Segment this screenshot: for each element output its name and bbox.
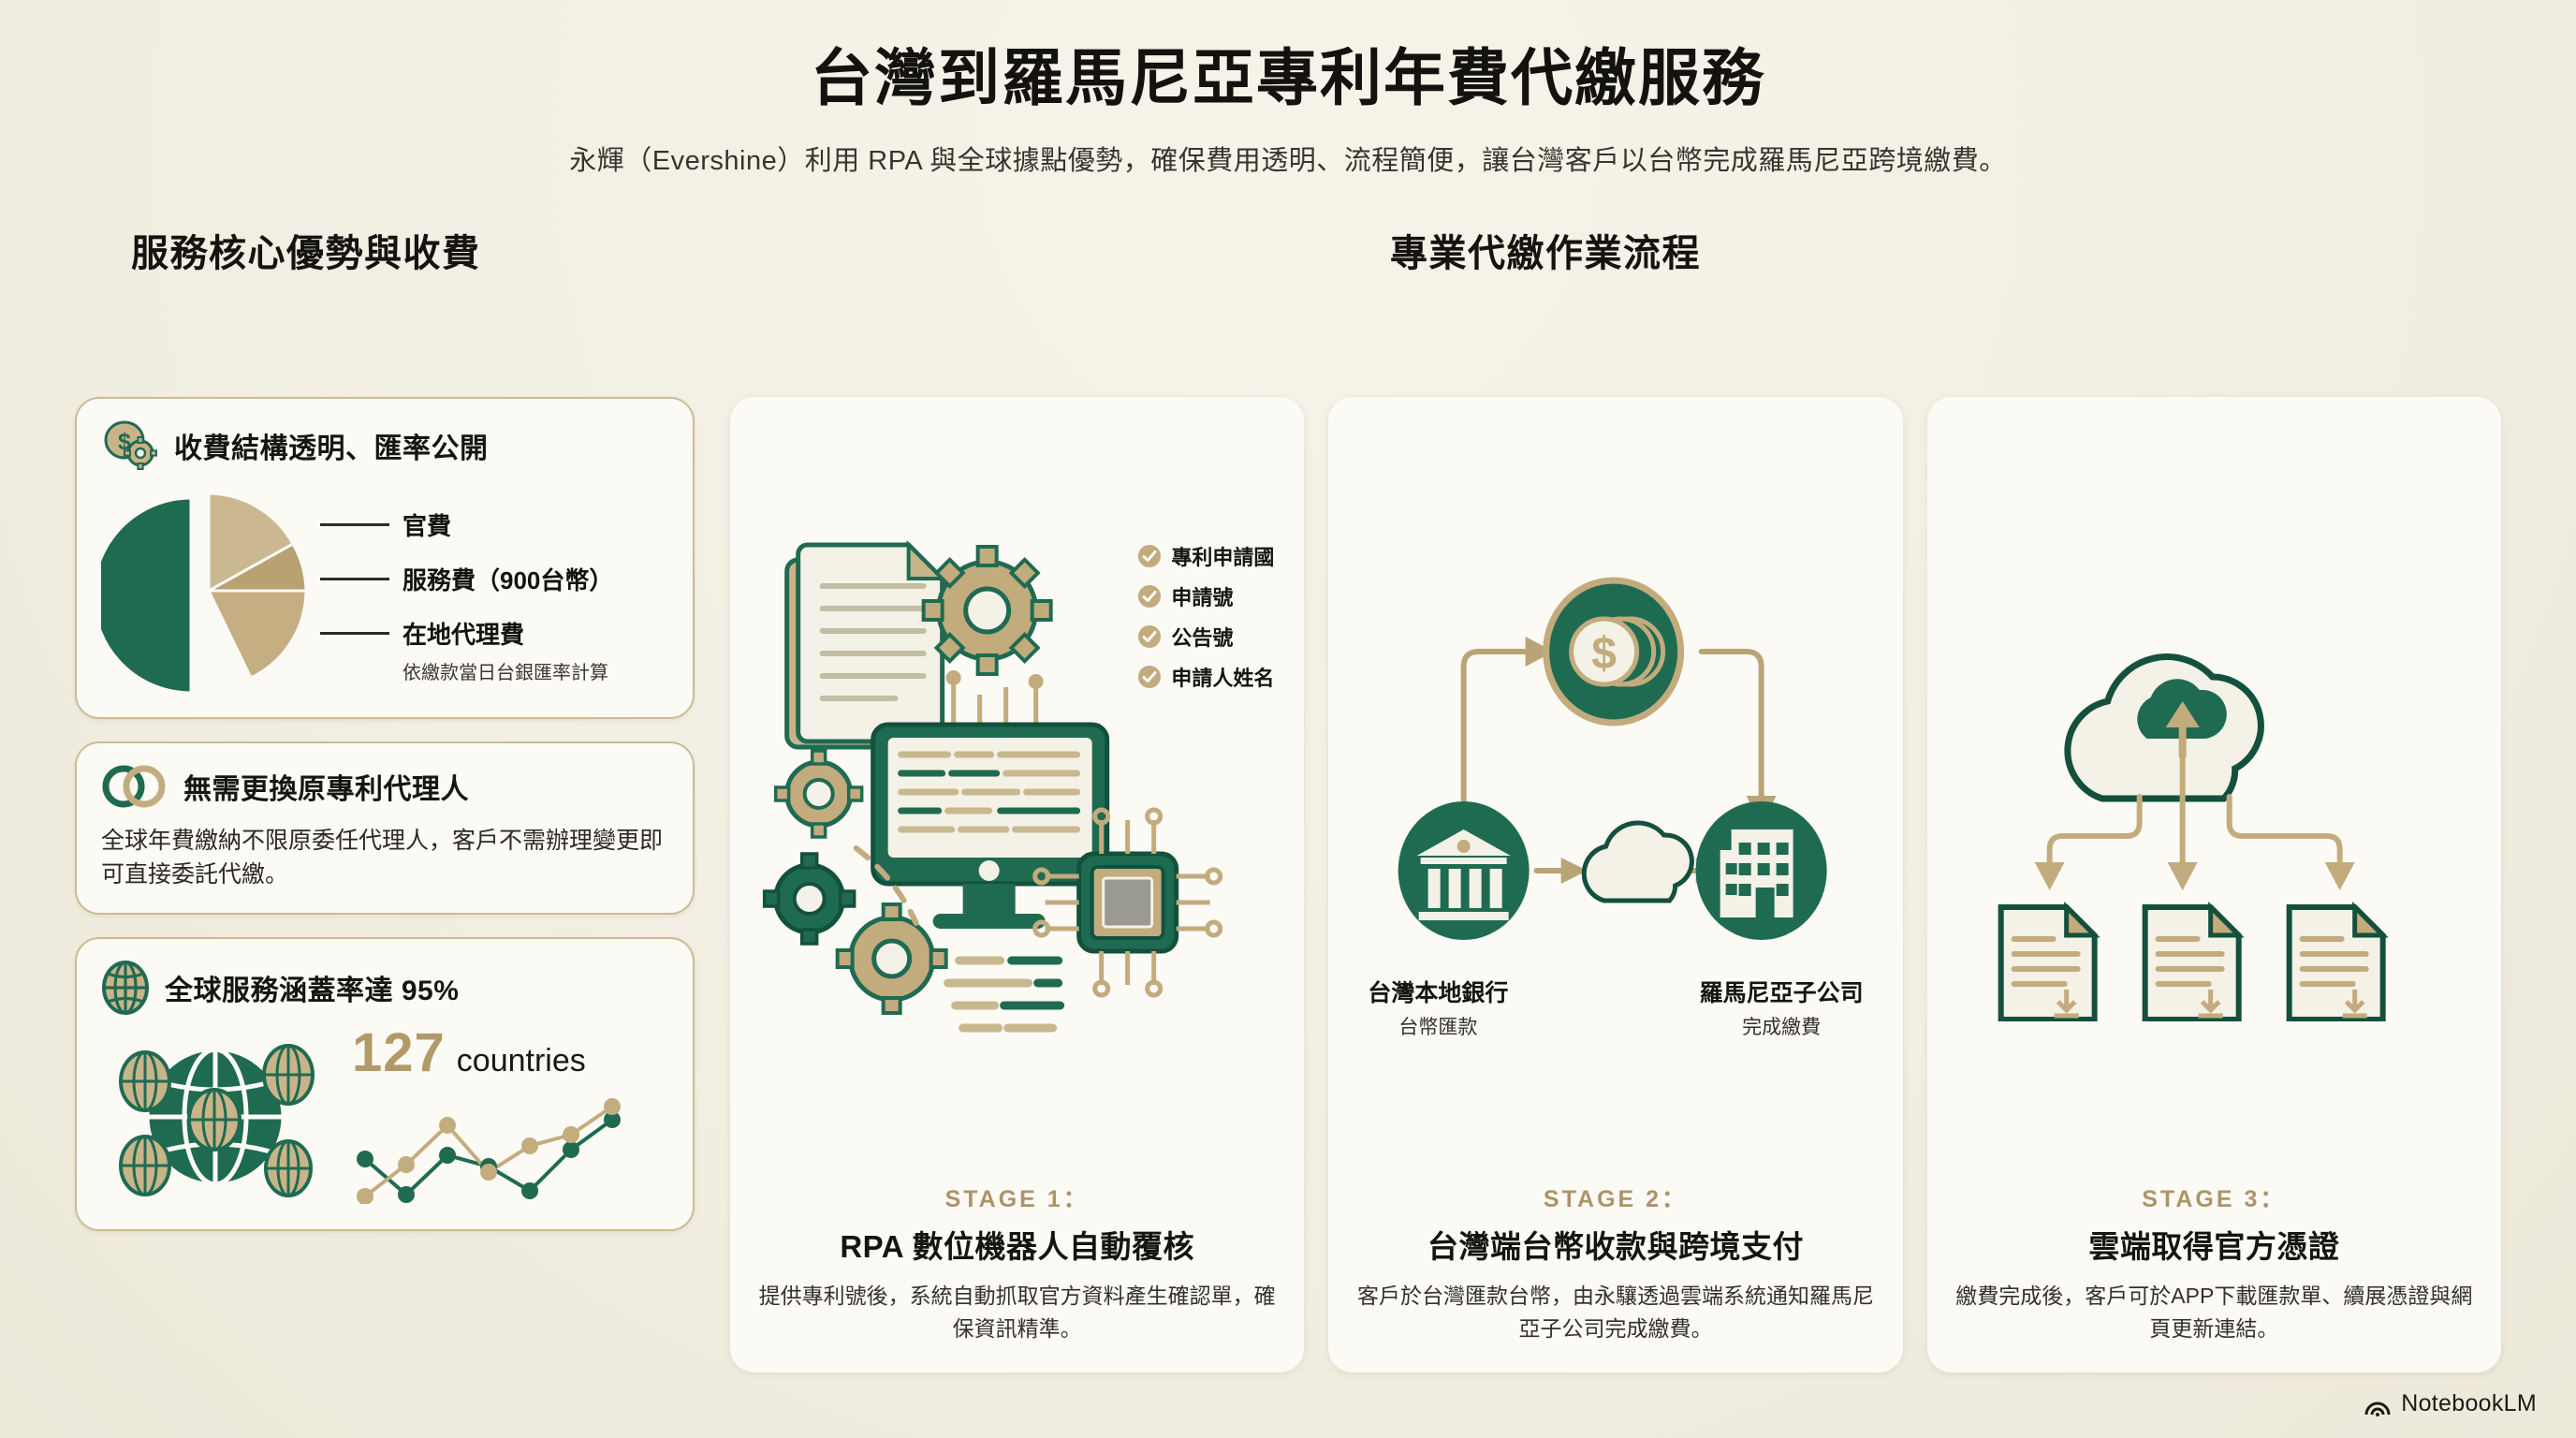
arrow-head [2167, 862, 2197, 890]
bank-icon [1398, 801, 1529, 940]
left-column: $ 收費結構透明、匯率公開 [75, 397, 695, 1372]
notebooklm-logo [2364, 1391, 2392, 1417]
legend-label-official-fee: 官費 [402, 507, 451, 542]
stage-2-node-labels: 台灣本地銀行 台幣匯款 羅馬尼亞子公司 完成繳費 [1353, 969, 1878, 1040]
satellite-globe [121, 1137, 169, 1195]
stage-panel-1: 專利申請國 申請號 [730, 397, 1304, 1372]
checklist-label: 申請人姓名 [1171, 662, 1274, 692]
page-header: 台灣到羅馬尼亞專利年費代繳服務 永輝（Evershine）利用 RPA 與全球據… [0, 0, 2576, 178]
section-heading-left: 服務核心優勢與收費 [131, 223, 481, 277]
stage-1-checklist: 專利申請國 申請號 [1137, 541, 1274, 702]
node-label-company: 羅馬尼亞子公司 完成繳費 [1700, 975, 1864, 1040]
globe-network-icon [101, 1023, 335, 1207]
points-green [357, 1111, 621, 1203]
checklist-label: 公告號 [1171, 622, 1233, 652]
card-title: 無需更換原專利代理人 [183, 766, 469, 807]
check-circle-icon [1137, 665, 1162, 689]
checklist-label: 申請號 [1171, 581, 1233, 611]
pie-chart-svg [101, 485, 316, 697]
data-lines [948, 961, 1061, 1028]
card-description: 全球年費繳納不限原委任代理人，客戶不需辦理變更即可直接委託代繳。 [101, 824, 668, 892]
legend-leader-line [320, 632, 389, 635]
svg-text:$: $ [1592, 629, 1617, 679]
country-unit: countries [457, 1043, 586, 1079]
coin-gear-icon: $ [101, 419, 159, 472]
globe-icon [101, 960, 150, 1016]
node-title: 台灣本地銀行 [1368, 975, 1508, 1008]
legend-item: 官費 [320, 498, 613, 552]
stage-title: RPA 數位機器人自動覆核 [840, 1222, 1194, 1267]
card-title: 收費結構透明、匯率公開 [174, 425, 489, 466]
stage-description: 提供專利號後，系統自動抓取官方資料產生確認單，確保資訊精準。 [754, 1280, 1280, 1344]
footer-brand-text: NotebookLM [2401, 1390, 2537, 1417]
building-icon [1696, 801, 1827, 940]
document-download-icon [2289, 907, 2382, 1020]
document-download-icon [2144, 907, 2238, 1020]
section-heading-right: 專業代繳作業流程 [1390, 223, 1701, 277]
check-circle-icon [1137, 584, 1162, 609]
document-download-icon [2000, 907, 2094, 1020]
stage-2-illustration: $ [1353, 421, 1878, 1181]
exchange-rate-note: 依繳款當日台銀匯率計算 [402, 657, 613, 684]
gear-icon [765, 854, 855, 944]
coin-stack-icon: $ [1546, 580, 1681, 723]
stage-1-illustration: 專利申請國 申請號 [754, 421, 1280, 1181]
right-column: 專利申請國 申請號 [730, 397, 2501, 1372]
pie-slice-green [101, 498, 191, 693]
stage-label: STAGE 2： [1544, 1181, 1688, 1214]
document-icon [787, 545, 943, 747]
card-header: 全球服務涵蓋率達 95% [101, 960, 668, 1016]
cloud-certificate-diagram [1952, 581, 2477, 1021]
legend-label-local-agent-fee: 在地代理費 [402, 616, 524, 651]
card-header: $ 收費結構透明、匯率公開 [101, 419, 668, 472]
legend-leader-line [320, 523, 389, 526]
checklist-item: 申請人姓名 [1137, 662, 1274, 692]
node-title: 羅馬尼亞子公司 [1700, 975, 1864, 1008]
coverage-line-chart [352, 1090, 650, 1204]
country-count: 127 [352, 1021, 446, 1084]
cloud-upload-icon [2068, 656, 2261, 798]
coverage-visual: 127 countries [101, 1021, 668, 1209]
check-circle-icon [1137, 624, 1162, 649]
checklist-item: 專利申請國 [1137, 541, 1274, 571]
fee-pie-chart: 官費 服務費（900台幣） 在地代理費 依繳款當日台銀匯率計算 [101, 485, 668, 697]
stage-description: 客戶於台灣匯款台幣，由永驤透過雲端系統通知羅馬尼亞子公司完成繳費。 [1353, 1280, 1878, 1344]
two-rings-icon [101, 764, 168, 809]
gear-icon [924, 547, 1051, 674]
center-globe [189, 1090, 240, 1150]
stage-title: 雲端取得官方憑證 [2088, 1222, 2339, 1267]
main-content: $ 收費結構透明、匯率公開 [0, 397, 2576, 1372]
card-no-agent-change: 無需更換原專利代理人 全球年費繳納不限原委任代理人，客戶不需辦理變更即可直接委託… [75, 741, 695, 915]
stage-panel-2: $ [1328, 397, 1902, 1372]
section-heading-row: 服務核心優勢與收費 專業代繳作業流程 [0, 223, 2576, 281]
legend-item: 服務費（900台幣） [320, 552, 613, 607]
page-subtitle: 永輝（Evershine）利用 RPA 與全球據點優勢，確保費用透明、流程簡便，… [0, 139, 2576, 178]
checklist-label: 專利申請國 [1171, 541, 1274, 571]
stage-3-illustration [1952, 421, 2477, 1181]
satellite-globe [264, 1046, 313, 1104]
legend-item: 在地代理費 [320, 607, 613, 661]
check-circle-icon [1137, 544, 1162, 568]
checklist-item: 申請號 [1137, 581, 1274, 611]
stage-label: STAGE 3： [2142, 1181, 2286, 1214]
legend-label-service-fee: 服務費（900台幣） [402, 562, 613, 596]
coverage-stat: 127 countries [352, 1021, 650, 1084]
stage-panel-3: STAGE 3： 雲端取得官方憑證 繳費完成後，客戶可於APP下載匯款單、續展憑… [1927, 397, 2501, 1372]
stage-label: STAGE 1： [945, 1181, 1090, 1214]
satellite-globe [121, 1052, 169, 1110]
checklist-item: 公告號 [1137, 622, 1274, 652]
card-global-coverage: 全球服務涵蓋率達 95% [75, 937, 695, 1231]
gear-icon [776, 751, 862, 837]
node-subtitle: 台幣匯款 [1368, 1012, 1508, 1040]
monitor-icon [873, 725, 1107, 929]
page-title: 台灣到羅馬尼亞專利年費代繳服務 [0, 43, 2576, 114]
gear-icon [838, 904, 946, 1013]
footer-branding: NotebookLM [2364, 1390, 2537, 1417]
flow-path-right [1702, 652, 1762, 796]
stage-description: 繳費完成後，客戶可於APP下載匯款單、續展憑證與網頁更新連結。 [1952, 1280, 2477, 1344]
cloud-icon [1585, 823, 1692, 901]
payment-flow-diagram: $ [1353, 562, 1878, 964]
coverage-stat-block: 127 countries [352, 1021, 650, 1209]
legend-leader-line [320, 578, 389, 580]
stage-title: 台灣端台幣收款與跨境支付 [1427, 1222, 1804, 1267]
node-label-bank: 台灣本地銀行 台幣匯款 [1368, 975, 1508, 1040]
pie-legend: 官費 服務費（900台幣） 在地代理費 依繳款當日台銀匯率計算 [320, 498, 613, 684]
card-title: 全球服務涵蓋率達 95% [165, 967, 459, 1008]
card-header: 無需更換原專利代理人 [101, 764, 668, 809]
card-fee-structure: $ 收費結構透明、匯率公開 [75, 397, 695, 719]
arrow-head [2324, 862, 2354, 890]
pie-slice-local-agent-fee [209, 591, 306, 678]
node-subtitle: 完成繳費 [1700, 1012, 1864, 1040]
satellite-globe [266, 1141, 311, 1196]
arrow-head [2034, 862, 2064, 890]
